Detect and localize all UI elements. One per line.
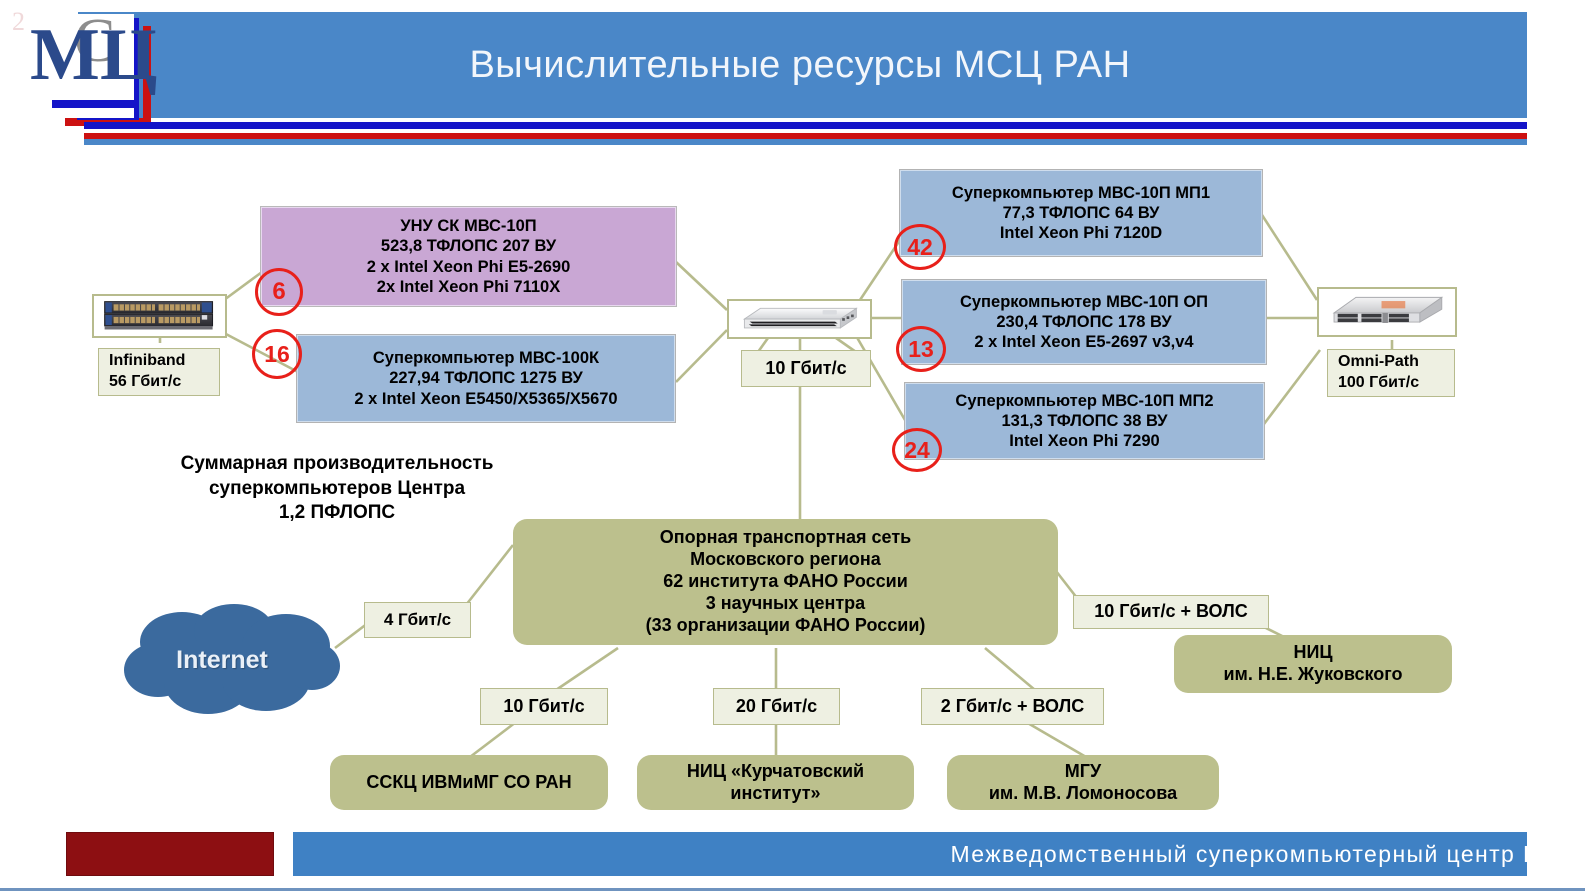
supercomputer-mvs-100k[interactable]: Суперкомпьютер МВС-100К 227,94 ТФЛОПС 12… [297,335,675,422]
backbone-network[interactable]: Опорная транспортная сеть Московского ре… [513,519,1058,645]
link-label-internet: 4 Гбит/с [364,602,471,638]
partner-sskc-ivmimg[interactable]: ССКЦ ИВМиМГ СО РАН [330,755,608,810]
badge-count-16: 16 [252,329,302,379]
ethernet-switch-image [727,299,872,339]
badge-count-13: 13 [896,326,946,372]
infiniband-switch-image [92,294,227,338]
supercomputer-mvs-10p-mp2[interactable]: Суперкомпьютер МВС-10П МП2 131,3 ТФЛОПС … [905,383,1264,459]
supercomputer-unu-sk-mvs-10p[interactable]: УНУ СК МВС-10П 523,8 ТФЛОПС 207 ВУ 2 x I… [261,207,676,306]
total-performance-summary: Суммарная производительность суперкомпью… [133,452,541,526]
ethernet-speed-label: 10 Гбит/с [741,350,871,387]
omni-path-switch-image [1317,287,1457,337]
footer-organization: Межведомственный суперкомпьютерный центр… [950,832,1573,876]
link-label-kurchatov: 20 Гбит/с [713,688,840,725]
slide-number-box [66,832,274,876]
badge-count-6: 6 [255,268,303,316]
network-switch-icon [731,303,868,335]
slide-canvas: Вычислительные ресурсы МСЦ РАН С МЦ [0,0,1585,896]
partner-nic-zhukovsky[interactable]: НИЦ им. Н.Е. Жуковского [1174,635,1452,693]
internet-label: Internet [116,640,328,680]
network-switch-icon [96,298,223,334]
link-label-msu: 2 Гбит/с + ВОЛС [921,688,1104,725]
supercomputer-mvs-10p-mp1[interactable]: Суперкомпьютер МВС-10П МП1 77,3 ТФЛОПС 6… [900,170,1262,256]
partner-nic-kurchatov[interactable]: НИЦ «Курчатовский институт» [637,755,914,810]
badge-count-24: 24 [892,428,942,472]
network-switch-icon [1321,291,1453,333]
supercomputer-mvs-10p-op[interactable]: Суперкомпьютер МВС-10П ОП 230,4 ТФЛОПС 1… [902,280,1266,364]
link-label-nic-zhukovsky: 10 Гбит/с + ВОЛС [1073,595,1269,629]
infiniband-label: Infiniband 56 Гбит/с [98,348,220,396]
omni-path-label: Omni-Path 100 Гбит/с [1327,349,1455,397]
partner-msu[interactable]: МГУ им. М.В. Ломоносова [947,755,1219,810]
badge-count-42: 42 [894,224,946,270]
link-label-sskc: 10 Гбит/с [480,688,608,725]
footer-rule [0,888,1585,891]
slide-number: 2 [12,0,25,44]
